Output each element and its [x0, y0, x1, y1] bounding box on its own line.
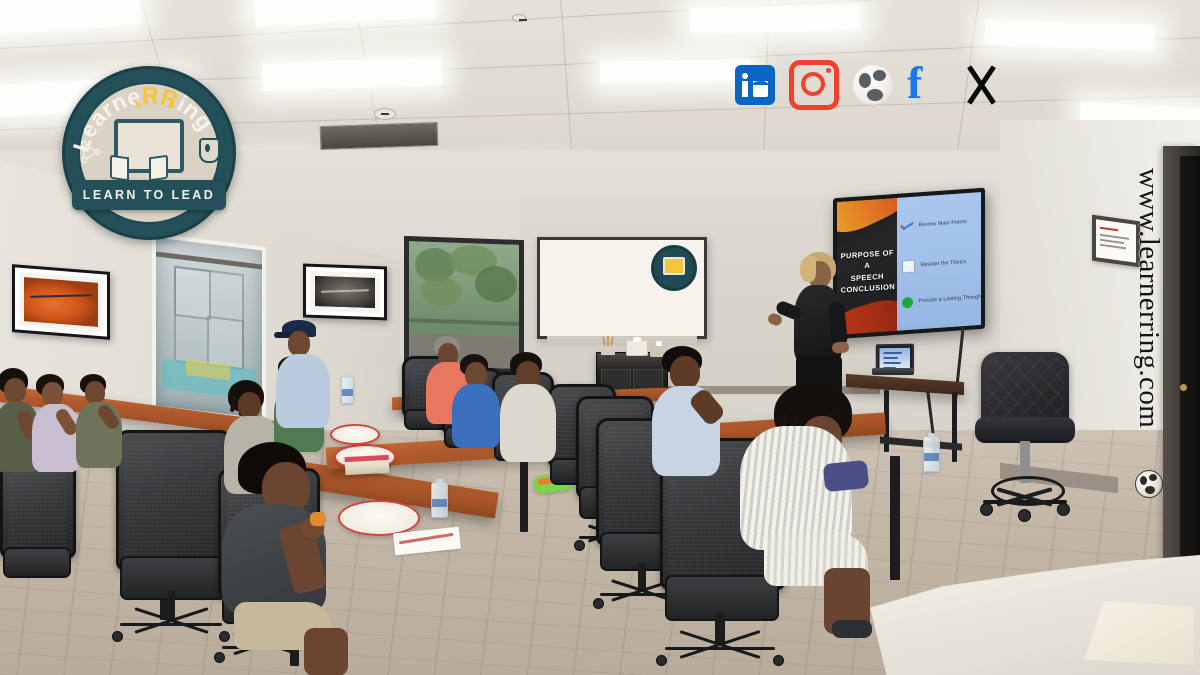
stool-seat [975, 417, 1075, 443]
smoke-detector-icon [512, 14, 526, 22]
door-knob[interactable] [1180, 384, 1187, 391]
ceiling-light-panel [0, 0, 141, 35]
chair-caster [574, 540, 585, 551]
open-book-icon [149, 155, 168, 182]
helicopter-photo [24, 277, 98, 327]
presenter-laptop[interactable] [872, 344, 914, 378]
chair-base [665, 641, 775, 667]
learnerring-logo: LearneRRing LEARN TO LEAD [62, 66, 236, 240]
student [652, 346, 728, 482]
water-bottle [431, 482, 448, 518]
globe-icon [1135, 470, 1163, 498]
stool-base [983, 493, 1067, 517]
globe-icon[interactable] [853, 65, 893, 105]
bottle-cap [928, 433, 935, 438]
instagram-icon[interactable] [789, 60, 839, 110]
window-pane [174, 266, 211, 321]
open-book-icon [110, 155, 129, 182]
bottle-cap [436, 479, 443, 484]
tissue-box [626, 340, 648, 356]
bottle-label [924, 453, 939, 462]
adult-with-cap [276, 320, 334, 432]
learnerring-seal-icon [651, 245, 697, 291]
presenter [770, 252, 858, 402]
website-url-wall-decal: www.learnerring.com [1132, 168, 1165, 428]
adult-head [288, 331, 310, 356]
social-icon-bar [735, 60, 1001, 110]
linkedin-icon[interactable] [735, 65, 775, 105]
window-rail [156, 251, 262, 269]
logo-tagline: LEARN TO LEAD [72, 180, 227, 210]
student-head [4, 378, 26, 403]
student [452, 354, 506, 454]
whiteboard [537, 237, 707, 339]
table-leg [890, 456, 900, 580]
student-head [42, 382, 63, 406]
tree-foliage [421, 275, 461, 306]
ceiling-light-panel [254, 0, 435, 27]
bottle-label [432, 499, 447, 508]
presenter-right-arm [828, 301, 849, 346]
presenter-hair [800, 256, 816, 282]
document-icon [902, 259, 915, 273]
bottle-cap [345, 373, 350, 378]
laptop-keyboard[interactable] [872, 368, 914, 375]
network-node-icon [80, 141, 102, 163]
student-torso [452, 384, 500, 448]
slide-bullet: Restate the Thesis [902, 255, 966, 272]
aircraft-photo [315, 276, 375, 308]
chair-base [120, 617, 221, 641]
framed-photo-aircraft [303, 264, 387, 321]
check-mark-icon [902, 221, 913, 233]
drafting-stool[interactable] [975, 352, 1075, 524]
certificate-line [1100, 244, 1126, 249]
presenter-right-hand [832, 341, 850, 353]
certificate-line [1100, 239, 1124, 244]
quilted-texture [986, 357, 1064, 423]
ceiling-air-vent [320, 122, 439, 150]
logo-tagline-ribbon: LEARN TO LEAD [72, 180, 227, 210]
pen-cup [601, 344, 615, 355]
framed-photo-helicopter [12, 264, 110, 340]
water-bottle [923, 436, 940, 472]
ceiling-light-panel [600, 59, 750, 84]
student-arm [823, 460, 870, 492]
chair-seat [3, 547, 71, 578]
bottle-label [342, 389, 353, 396]
slide-bullet: Provide a Lasting Thought [902, 292, 982, 309]
facebook-icon[interactable] [907, 65, 947, 105]
slide-bullet-text: Review Main Points [918, 219, 966, 228]
slide-bullet-text: Provide a Lasting Thought [918, 294, 982, 304]
student-foreground-right [740, 382, 890, 642]
entry-door[interactable] [1180, 156, 1200, 558]
mesh-office-chair[interactable] [0, 460, 70, 610]
student [500, 352, 562, 470]
smoke-detector-icon [374, 108, 396, 120]
adult-torso [276, 354, 330, 428]
slide-bullet-text: Restate the Thesis [920, 259, 966, 268]
slide-accent-shape [837, 198, 897, 242]
chair-mesh [125, 439, 223, 562]
whiteboard-marker-tray [547, 336, 698, 343]
ceiling-light-panel [262, 57, 443, 91]
x-twitter-icon[interactable] [961, 65, 1001, 105]
stool-backrest [981, 352, 1069, 428]
student-torso [500, 384, 556, 462]
certificate-line [1100, 227, 1118, 231]
mesh-office-chair[interactable] [116, 430, 226, 648]
slide-bullet: Review Main Points [902, 217, 966, 232]
ceiling-light-panel [690, 5, 860, 34]
slide-content-panel: Review Main Points Restate the Thesis Pr… [897, 192, 981, 331]
sun-ray [153, 95, 156, 104]
chair-caster [112, 631, 123, 642]
tree-foliage [475, 265, 517, 302]
laptop-display [880, 348, 911, 369]
student-leg [304, 628, 348, 675]
green-dot-icon [902, 296, 913, 308]
chair-backrest [116, 430, 232, 571]
student-foreground [216, 442, 352, 672]
shield-icon [199, 138, 220, 163]
student-head [670, 356, 700, 389]
student-head [85, 381, 105, 404]
student [74, 374, 126, 478]
water-bottle [341, 376, 354, 404]
table-leg [952, 392, 957, 462]
classroom-photo: PURPOSE OF A SPEECH CONCLUSION Review Ma… [0, 0, 1200, 675]
student-head [238, 392, 261, 418]
